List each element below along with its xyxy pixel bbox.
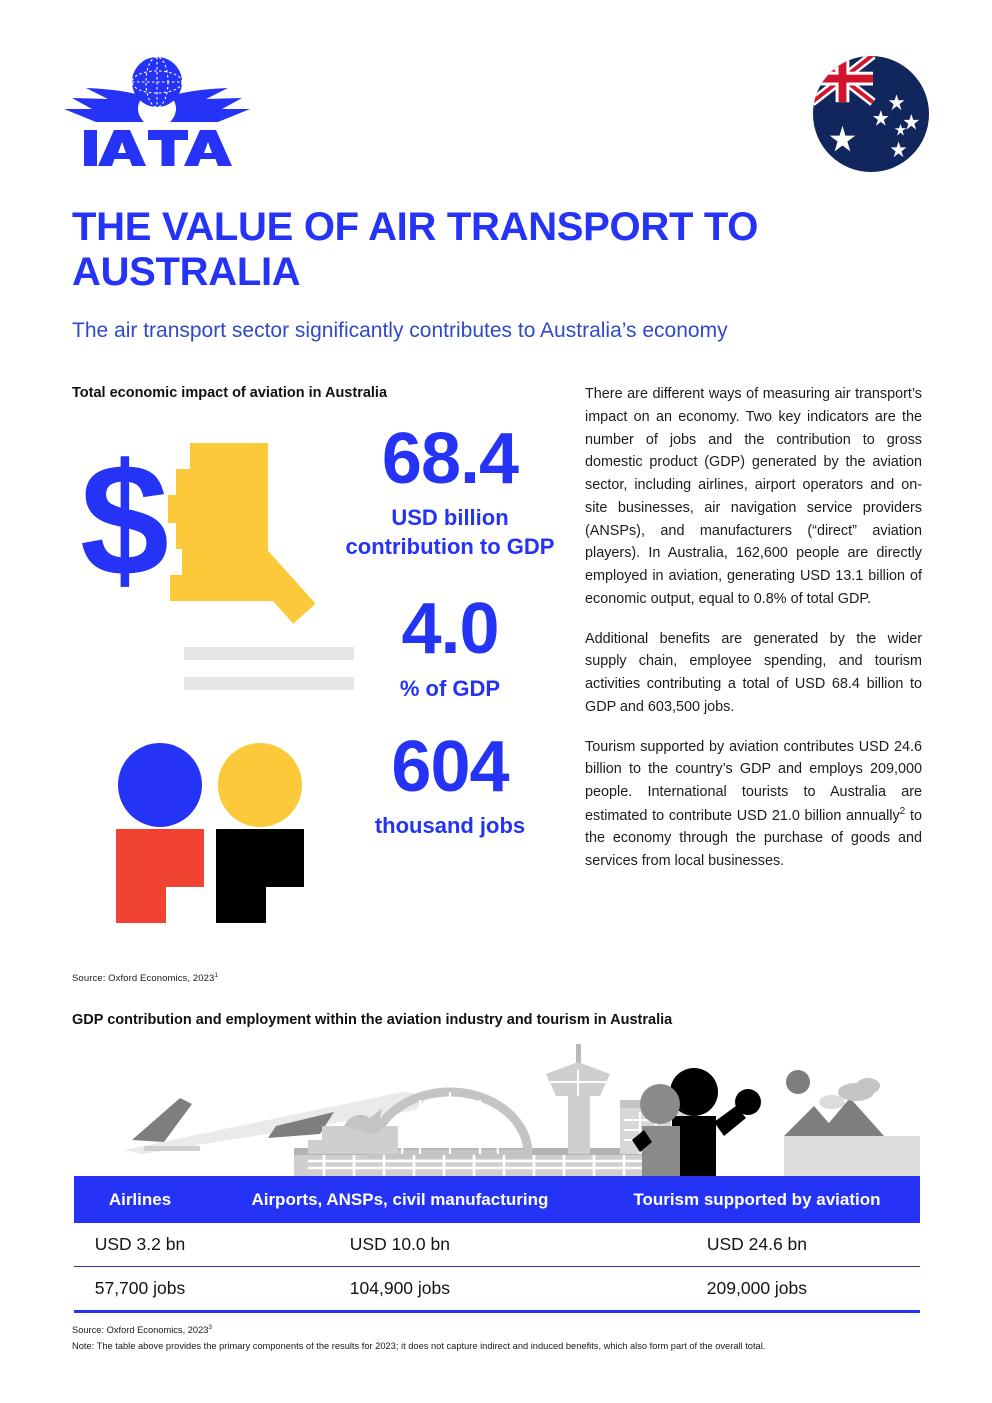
paragraph-1: There are different ways of measuring ai… bbox=[585, 383, 922, 611]
person-head-yellow bbox=[218, 743, 302, 827]
person-body-red bbox=[116, 829, 204, 923]
stat-label: USD billion contribution to GDP bbox=[330, 503, 570, 561]
person-head-blue bbox=[118, 743, 202, 827]
stat-jobs: 604 thousand jobs bbox=[330, 733, 570, 840]
paragraph-3: Tourism supported by aviation contribute… bbox=[585, 736, 922, 873]
dollar-gavel-icon: $ bbox=[72, 425, 322, 625]
svg-text:$: $ bbox=[80, 430, 169, 609]
impact-stats: 68.4 USD billion contribution to GDP 4.0… bbox=[330, 425, 570, 874]
people-jobs-icon bbox=[112, 743, 362, 923]
section-heading-breakdown: GDP contribution and employment within t… bbox=[72, 1012, 672, 1028]
stat-value: 68.4 bbox=[330, 425, 570, 493]
stat-percent-gdp: 4.0 % of GDP bbox=[330, 595, 570, 702]
tourism-icon bbox=[632, 1068, 920, 1176]
table-column-airports: Airports, ANSPs, civil manufacturing bbox=[206, 1176, 594, 1223]
placeholder-bar-2 bbox=[184, 677, 354, 690]
page-title: THE VALUE OF AIR TRANSPORT TO AUSTRALIA bbox=[72, 205, 922, 295]
table-cell: 57,700 jobs bbox=[74, 1267, 206, 1312]
body-copy: There are different ways of measuring ai… bbox=[585, 383, 922, 873]
stat-label: % of GDP bbox=[330, 674, 570, 703]
stat-value: 4.0 bbox=[330, 595, 570, 663]
stat-label: thousand jobs bbox=[330, 811, 570, 840]
australia-flag-icon bbox=[812, 55, 930, 173]
table-column-tourism: Tourism supported by aviation bbox=[594, 1176, 920, 1223]
title-block: THE VALUE OF AIR TRANSPORT TO AUSTRALIA … bbox=[72, 205, 922, 344]
table-cell: USD 24.6 bn bbox=[594, 1223, 920, 1267]
paragraph-2: Additional benefits are generated by the… bbox=[585, 628, 922, 719]
table-row: 57,700 jobs 104,900 jobs 209,000 jobs bbox=[74, 1267, 920, 1312]
sector-illustrations bbox=[72, 1030, 920, 1176]
source-note-1: Source: Oxford Economics, 20231 bbox=[72, 972, 218, 984]
source-note-2: Source: Oxford Economics, 20233 bbox=[72, 1322, 932, 1338]
stat-gdp-contribution: 68.4 USD billion contribution to GDP bbox=[330, 425, 570, 561]
footnote-marker-3: 3 bbox=[208, 1324, 212, 1331]
table-row: USD 3.2 bn USD 10.0 bn USD 24.6 bn bbox=[74, 1223, 920, 1267]
paragraph-3-part-a: Tourism supported by aviation contribute… bbox=[585, 739, 922, 824]
table-cell: USD 10.0 bn bbox=[206, 1223, 594, 1267]
stat-value: 604 bbox=[330, 733, 570, 801]
person-body-black bbox=[216, 829, 304, 923]
table-cell: USD 3.2 bn bbox=[74, 1223, 206, 1267]
page-subtitle: The air transport sector significantly c… bbox=[72, 317, 922, 344]
table-note: Note: The table above provides the prima… bbox=[72, 1338, 932, 1354]
impact-icons: $ bbox=[72, 425, 322, 925]
iata-logo bbox=[52, 52, 262, 172]
section-heading-impact: Total economic impact of aviation in Aus… bbox=[72, 385, 387, 401]
table-column-airlines: Airlines bbox=[74, 1176, 206, 1223]
footnote-marker-1: 1 bbox=[214, 972, 218, 979]
source-text: Source: Oxford Economics, 2023 bbox=[72, 1325, 208, 1335]
breakdown-table: Airlines Airports, ANSPs, civil manufact… bbox=[74, 1176, 920, 1313]
source-text: Source: Oxford Economics, 2023 bbox=[72, 973, 214, 984]
table-header-row: Airlines Airports, ANSPs, civil manufact… bbox=[74, 1176, 920, 1223]
footnotes: Source: Oxford Economics, 20233 Note: Th… bbox=[72, 1322, 932, 1355]
page-header bbox=[0, 0, 992, 190]
table-cell: 209,000 jobs bbox=[594, 1267, 920, 1312]
table-cell: 104,900 jobs bbox=[206, 1267, 594, 1312]
placeholder-bar-1 bbox=[184, 647, 354, 660]
